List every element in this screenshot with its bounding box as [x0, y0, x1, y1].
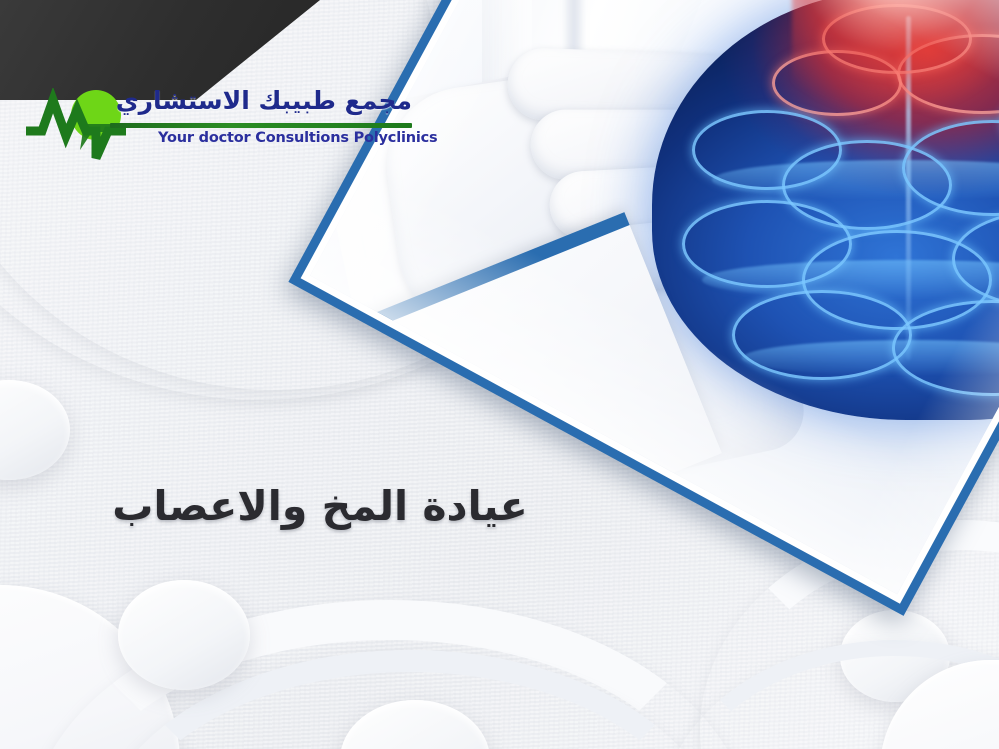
red-glow-hotspot: [792, 0, 999, 110]
logo-divider-rule: [110, 123, 412, 128]
page-title: عيادة المخ والاعصاب: [0, 482, 640, 530]
clinic-logo[interactable]: مجمع طبيبك الاستشاري Your doctor Consult…: [22, 88, 412, 164]
logo-english-name: Your doctor Consultions Polyclinics: [158, 130, 414, 146]
logo-arabic-name: مجمع طبيبك الاستشاري: [134, 86, 412, 115]
clinic-poster: مجمع طبيبك الاستشاري Your doctor Consult…: [0, 0, 999, 749]
background-circle-bottom-left: [118, 580, 250, 690]
logo-text-block: مجمع طبيبك الاستشاري Your doctor Consult…: [134, 88, 412, 160]
